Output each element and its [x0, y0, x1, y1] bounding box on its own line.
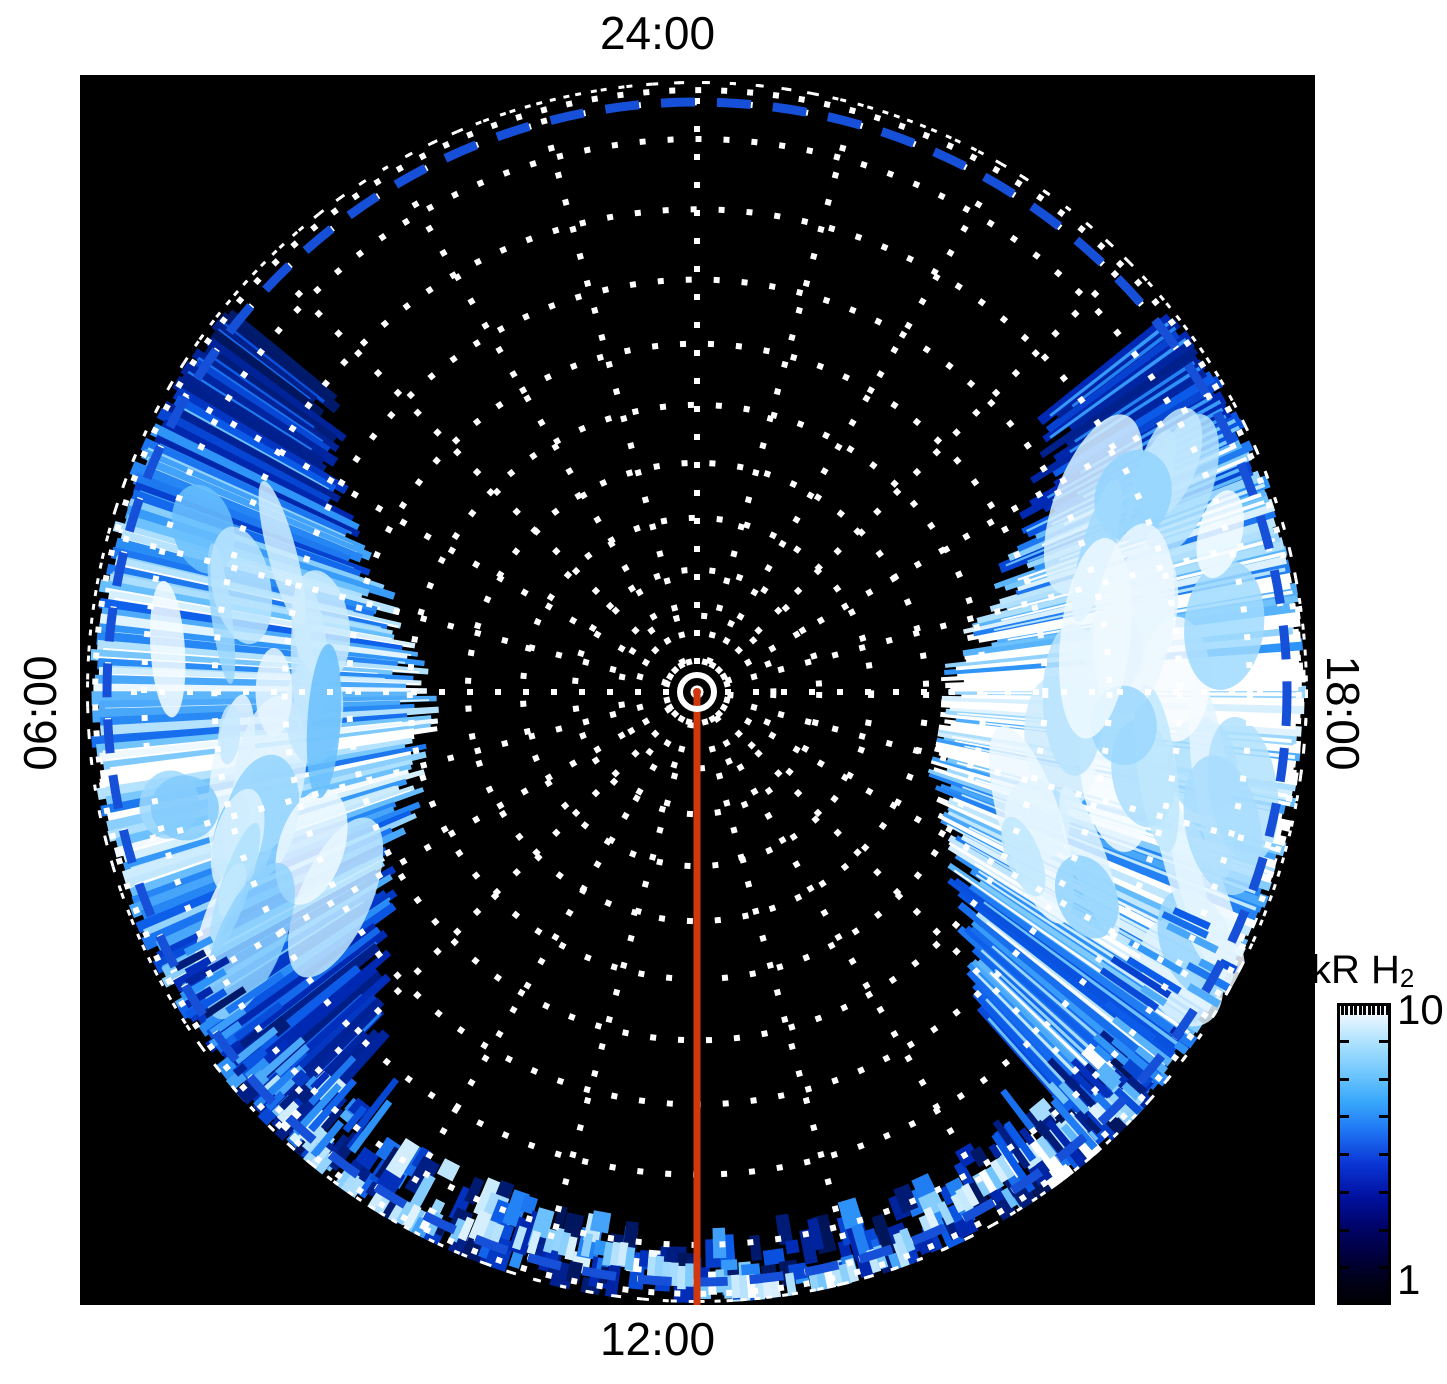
colorbar-tick [1379, 1153, 1388, 1156]
colorbar-tick [1340, 1078, 1349, 1081]
colorbar-tick [1340, 1115, 1349, 1118]
mlt-label-18-00: 18:00 [1320, 628, 1366, 798]
emission-streak [785, 1239, 800, 1254]
colorbar-tick [1379, 1266, 1388, 1269]
colorbar-tick [1379, 1040, 1388, 1043]
colorbar-tick-top [1372, 1006, 1375, 1015]
colorbar-tick-top [1363, 1006, 1366, 1015]
colorbar-tick [1379, 1229, 1388, 1232]
colorbar-tick [1340, 1229, 1349, 1232]
colorbar-tick-top [1359, 1006, 1362, 1015]
colorbar-tick [1340, 1191, 1349, 1194]
colorbar-tick [1379, 1115, 1388, 1118]
mlt-label-12-00: 12:00 [0, 1316, 1315, 1362]
colorbar-tick [1340, 1266, 1349, 1269]
pole-center-dot [693, 688, 701, 696]
colorbar-tick-top [1350, 1006, 1353, 1015]
colorbar-tick-top [1368, 1006, 1371, 1015]
colorbar-tick-top [1345, 1006, 1348, 1015]
colorbar-tick [1340, 1040, 1349, 1043]
colorbar-tick [1379, 1078, 1388, 1081]
colorbar [1337, 1003, 1391, 1305]
colorbar-title-main: kR H [1311, 948, 1400, 992]
emission-streak [685, 1263, 694, 1286]
emission-streak [677, 1266, 686, 1289]
polar-plot-area [80, 75, 1315, 1305]
colorbar-tick [1340, 1153, 1349, 1156]
colorbar-min-label: 1 [1397, 1256, 1420, 1304]
colorbar-tick-top [1377, 1006, 1380, 1015]
mlt-label-06-00: 06:00 [17, 628, 63, 798]
colorbar-tick-top [1386, 1006, 1389, 1015]
colorbar-max-label: 10 [1397, 986, 1444, 1034]
colorbar-tick-top [1354, 1006, 1357, 1015]
colorbar-tick-top [1341, 1006, 1344, 1015]
colorbar-tick [1379, 1191, 1388, 1194]
colorbar-tick-top [1381, 1006, 1384, 1015]
polar-projection-svg [80, 75, 1315, 1305]
mlt-label-24-00: 24:00 [0, 10, 1315, 56]
